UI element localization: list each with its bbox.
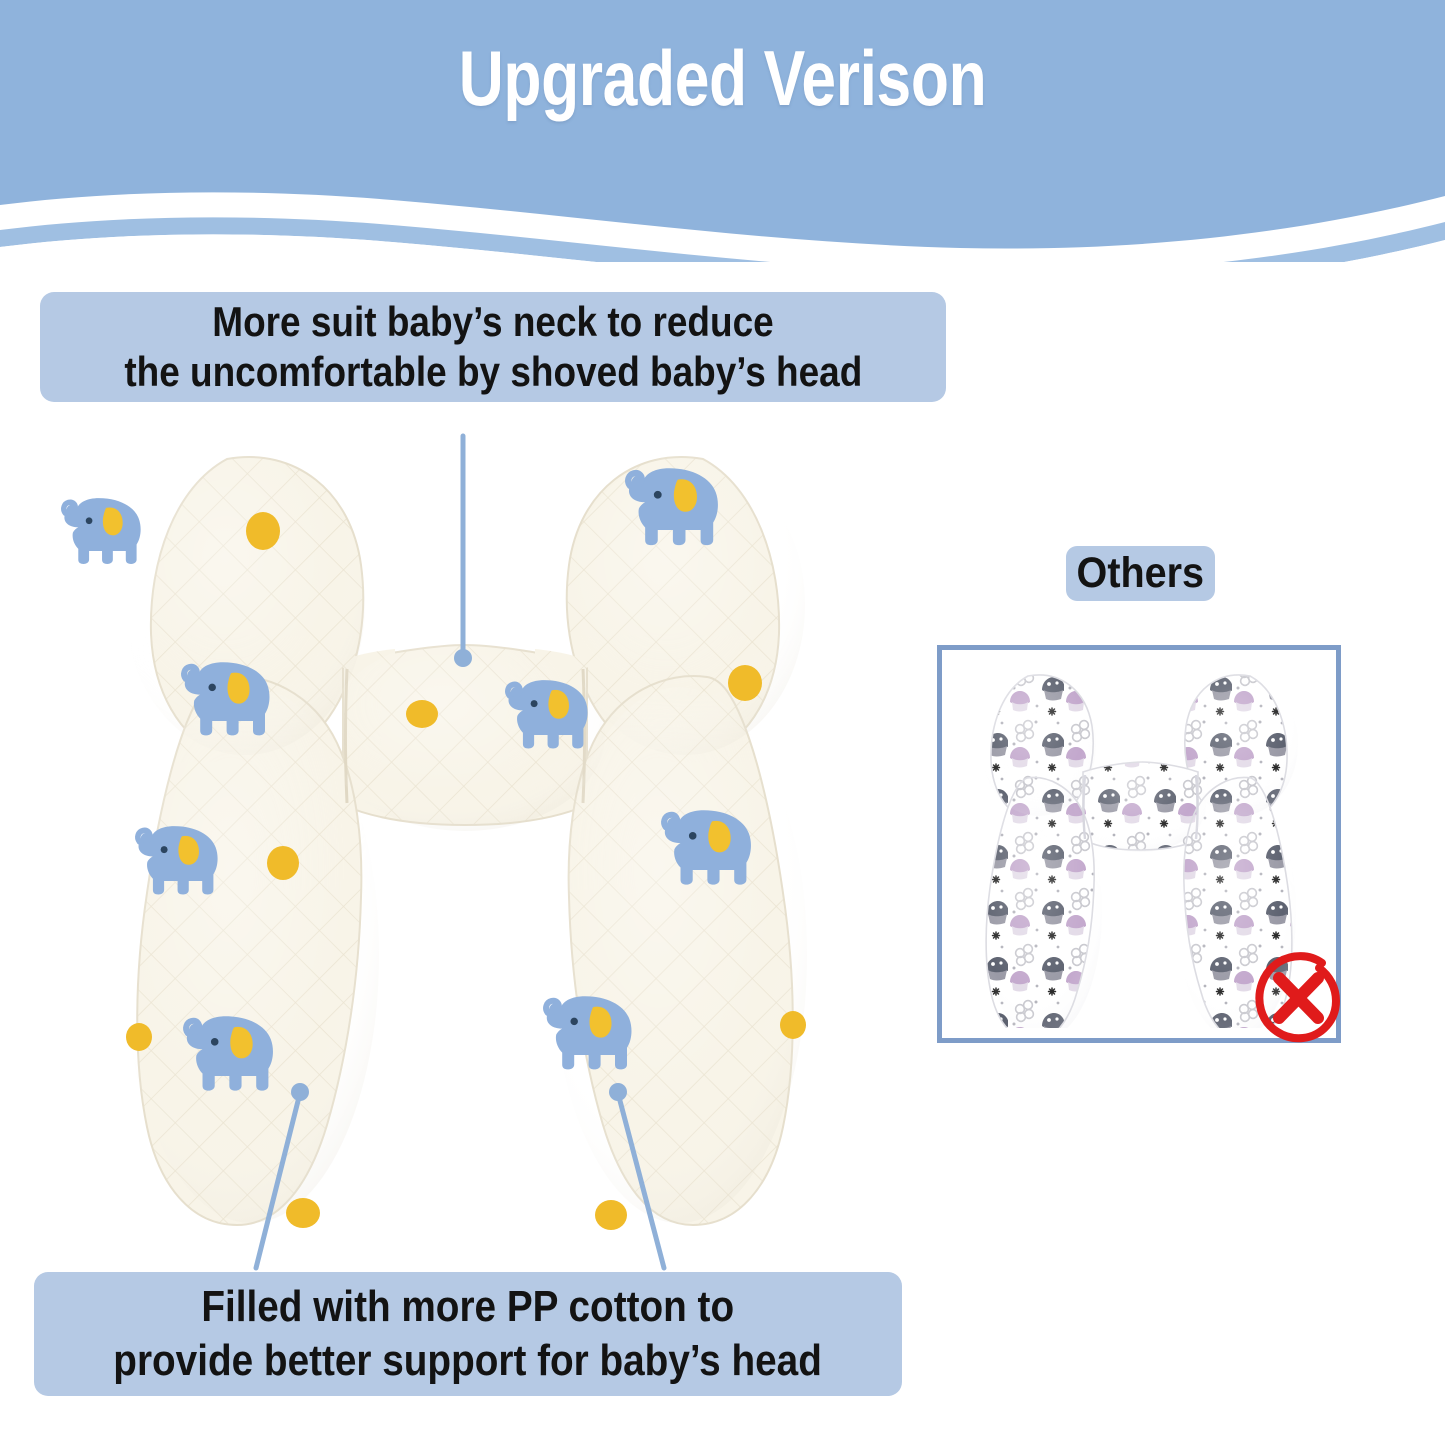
main-product-image: [55, 425, 875, 1255]
others-comparison-frame: [937, 645, 1341, 1043]
callout-top-line1: More suit baby’s neck to reduce: [212, 297, 773, 347]
others-label-text: Others: [1077, 552, 1205, 595]
yellow-dot-group: [126, 512, 806, 1230]
upgraded-pillow-illustration: [55, 425, 875, 1255]
callout-top-line2: the uncomfortable by shoved baby’s head: [124, 347, 862, 397]
header-banner: Upgraded Verison: [0, 0, 1445, 262]
callout-top: More suit baby’s neck to reduce the unco…: [40, 292, 946, 402]
callout-bottom: Filled with more PP cotton to provide be…: [34, 1272, 902, 1396]
callout-bottom-line2: provide better support for baby’s head: [114, 1334, 823, 1388]
callout-bottom-line1: Filled with more PP cotton to: [202, 1280, 735, 1334]
page-title: Upgraded Verison: [145, 38, 1301, 120]
infographic-canvas: Upgraded Verison: [0, 0, 1445, 1445]
others-label: Others: [1066, 546, 1215, 601]
elephant-motif-group: [64, 468, 751, 1090]
